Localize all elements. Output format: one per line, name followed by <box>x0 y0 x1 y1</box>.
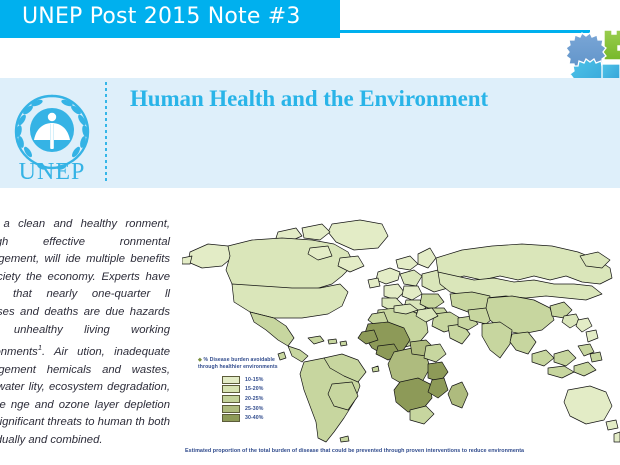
legend-title-line1: % Disease burden avoidable <box>204 357 275 363</box>
body-paragraph-part2: . Air ution, inadequate management hemic… <box>0 346 170 446</box>
legend-item: 30-40% <box>222 413 338 423</box>
body-paragraph-part1: uring a clean and healthy ronment, throu… <box>0 218 170 358</box>
legend-item: 15-20% <box>222 385 338 395</box>
legend-swatch <box>222 395 240 403</box>
legend-label: 25-30% <box>245 406 263 412</box>
dotted-divider <box>105 82 107 184</box>
legend-swatch <box>222 376 240 384</box>
legend-item: 25-30% <box>222 404 338 414</box>
legend-bullet-icon: ◆ <box>198 357 202 363</box>
map-legend: ◆ % Disease burden avoidable through hea… <box>198 357 338 423</box>
world-map-figure: ◆ % Disease burden avoidable through hea… <box>182 214 620 465</box>
legend-title-line2: through healthier environments <box>198 364 278 370</box>
legend-label: 15-20% <box>245 386 263 392</box>
legend-item: 10-15% <box>222 375 338 385</box>
legend-swatch <box>222 414 240 422</box>
svg-text:UNEP: UNEP <box>19 159 86 182</box>
legend-swatch <box>222 405 240 413</box>
figure-caption: Estimated proportion of the total burden… <box>185 448 620 454</box>
unep-logo: UNEP <box>2 82 102 182</box>
legend-label: 10-15% <box>245 377 263 383</box>
legend-title: ◆ % Disease burden avoidable through hea… <box>198 357 310 371</box>
banner-title: UNEP Post 2015 Note #3 <box>22 4 301 29</box>
legend-swatch <box>222 385 240 393</box>
banner-rule <box>340 30 590 33</box>
legend-label: 20-25% <box>245 396 263 402</box>
document-page: UNEP Post 2015 Note #3 <box>0 0 620 465</box>
legend-label: 30-40% <box>245 415 263 421</box>
page-title: Human Health and the Environment <box>130 86 600 111</box>
header-banner: UNEP Post 2015 Note #3 <box>0 0 340 38</box>
body-paragraph: uring a clean and healthy ronment, throu… <box>0 216 170 449</box>
legend-rows: 10-15% 15-20% 20-25% 25-30% 30-40% <box>222 375 338 423</box>
body-text-column: uring a clean and healthy ronment, throu… <box>0 216 170 449</box>
puzzle-gear-icon <box>560 24 620 86</box>
legend-item: 20-25% <box>222 394 338 404</box>
